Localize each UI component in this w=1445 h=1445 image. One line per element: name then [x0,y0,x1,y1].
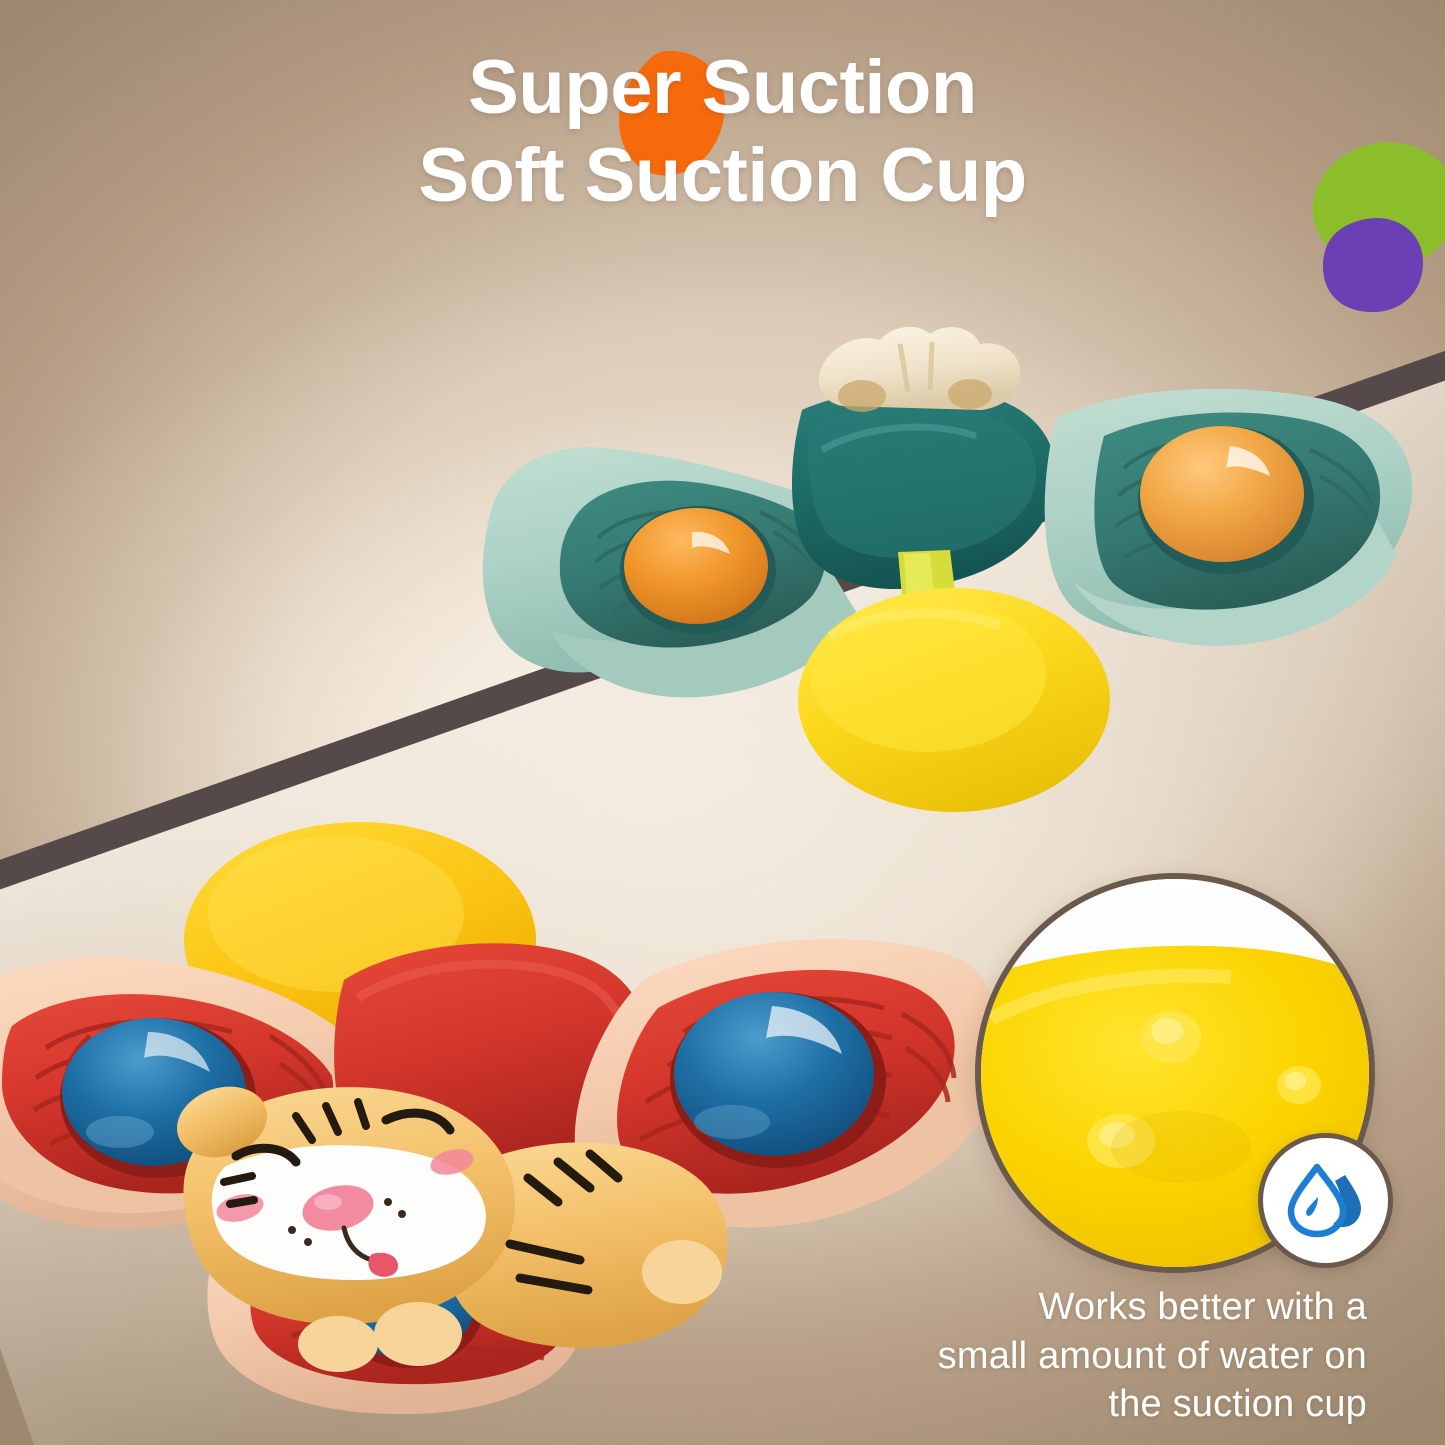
caption-line-2: small amount of water on [767,1332,1367,1381]
yellow-suction-cup-teal-toy [798,588,1110,812]
headline-line-2: Soft Suction Cup [40,132,1405,220]
water-drop-icon [1283,1155,1369,1246]
water-drop-badge [1258,1133,1393,1268]
teal-butterfly-suction-toy [430,300,1445,770]
headline-line-1: Super Suction [40,44,1405,132]
caption-block: Works better with a small amount of wate… [767,1283,1367,1429]
cream-animal-figure [819,327,1020,412]
product-marketing-image: Super Suction Soft Suction Cup [0,0,1445,1445]
caption-line-1: Works better with a [767,1283,1367,1332]
caption-line-3: the suction cup [767,1380,1367,1429]
headline-block: Super Suction Soft Suction Cup [0,44,1445,220]
